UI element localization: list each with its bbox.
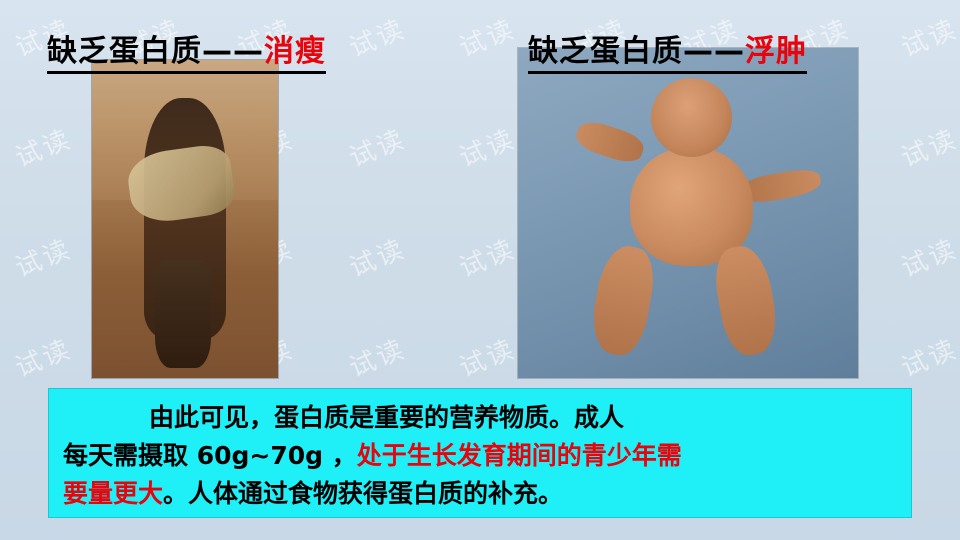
slide-headings: 缺乏蛋白质——消瘦 缺乏蛋白质——浮肿: [0, 12, 960, 58]
watermark-text: 试读: [343, 118, 411, 174]
photo-left-legs: [155, 260, 211, 368]
watermark-text: 试读: [895, 328, 960, 384]
image-edema-infant: [518, 48, 858, 378]
watermark-text: 试读: [343, 228, 411, 284]
watermark-text: 试读: [453, 228, 521, 284]
heading-right-accent: 浮肿: [745, 34, 807, 69]
watermark-text: 试读: [895, 228, 960, 284]
heading-left-prefix: 缺乏蛋白质——: [47, 34, 264, 69]
watermark-text: 试读: [9, 118, 77, 174]
caption-line2-red: 处于生长发育期间的青少年需: [357, 441, 682, 470]
caption-box: 由此可见，蛋白质是重要的营养物质。成人 每天需摄取 60g~70g ，处于生长发…: [48, 388, 912, 518]
heading-right-prefix: 缺乏蛋白质——: [528, 34, 745, 69]
image-malnourished-child: [92, 60, 278, 378]
presentation-slide: 试读试读试读试读试读试读试读试读试读试读试读试读试读试读试读试读试读试读试读试读…: [0, 0, 960, 540]
watermark-text: 试读: [895, 118, 960, 174]
photo-right-leg-right: [710, 242, 782, 359]
watermark-text: 试读: [9, 328, 77, 384]
caption-line3-red: 要量更大: [63, 479, 163, 508]
watermark-text: 试读: [453, 118, 521, 174]
caption-line3-black: 。人体通过食物获得蛋白质的补充。: [163, 479, 563, 508]
caption-line1: 由此可见，蛋白质是重要的营养物质。成人: [149, 403, 624, 432]
photo-right-leg-left: [587, 242, 659, 359]
caption-text: 由此可见，蛋白质是重要的营养物质。成人 每天需摄取 60g~70g ，处于生长发…: [63, 399, 897, 513]
photo-right-arm-left: [573, 117, 647, 166]
heading-left-accent: 消瘦: [264, 34, 326, 69]
photo-right-head: [651, 78, 733, 157]
watermark-text: 试读: [453, 328, 521, 384]
heading-left: 缺乏蛋白质——消瘦: [47, 26, 326, 74]
watermark-text: 试读: [9, 228, 77, 284]
watermark-text: 试读: [343, 328, 411, 384]
heading-right: 缺乏蛋白质——浮肿: [528, 26, 807, 74]
caption-line2-black: 每天需摄取 60g~70g ，: [63, 441, 357, 470]
